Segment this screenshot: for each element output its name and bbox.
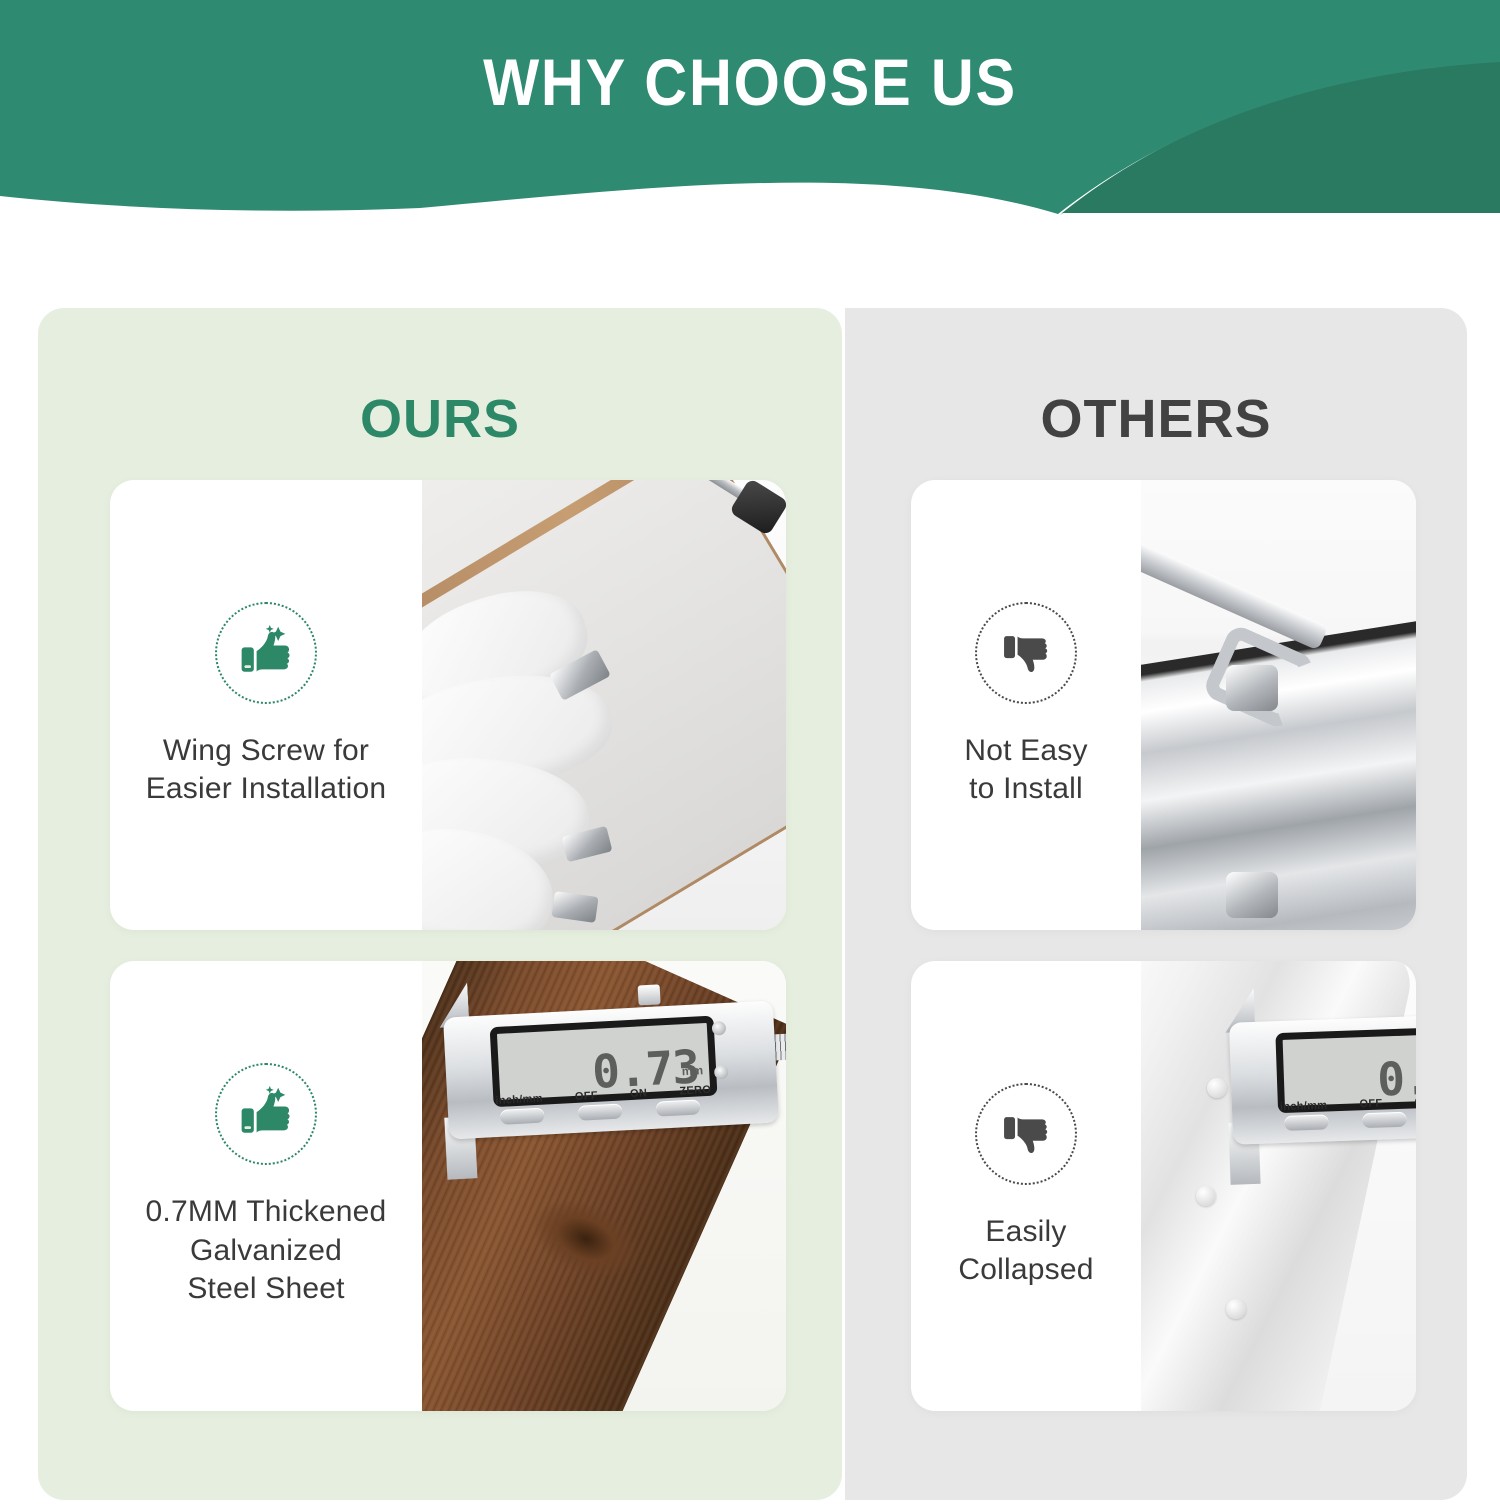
hex-bolt [1226,872,1278,918]
card-others-easily-collapsed-media: 0.33 mm inch/mm OFF ON ZERO [1141,961,1416,1411]
caliper-label-off: OFF [1359,1097,1382,1110]
panel-ours-title: OURS [38,388,842,450]
card-others-not-easy-install[interactable]: Not Easy to Install [911,480,1416,930]
page-title: WHY CHOOSE US [75,44,1425,120]
card-others-easily-collapsed[interactable]: Easily Collapsed 0.33 mm [911,961,1416,1411]
caliper-reading-unit: mm [681,1063,703,1078]
wrench-tightening-bolt-on-steel-duct-photo [1141,480,1416,930]
card-ours-wing-screw-media [422,480,786,930]
caliper-button-2 [578,1103,623,1120]
thumbs-up-sparkle-icon [215,1063,317,1165]
card-ours-wing-screw-text: Wing Screw for Easier Installation [110,480,422,930]
card-ours-steel-sheet-media: 0.73 mm inch/mm OFF ON ZERO [422,961,786,1411]
caliper-button-1 [1284,1114,1328,1131]
card-others-not-easy-install-text: Not Easy to Install [911,480,1141,930]
card-ours-steel-sheet[interactable]: 0.7MM Thickened Galvanized Steel Sheet 0… [110,961,786,1411]
caliper-button-3 [656,1099,701,1116]
card-ours-steel-sheet-label: 0.7MM Thickened Galvanized Steel Sheet [146,1193,387,1308]
page-header: WHY CHOOSE US [0,0,1500,215]
caliper-label-on: ON [1414,1096,1416,1109]
thumbs-down-icon [975,602,1077,704]
thumbs-up-sparkle-icon [215,602,317,704]
caliper-label-zero: ZERO [679,1084,711,1098]
thumbs-down-icon [975,1083,1077,1185]
card-ours-wing-screw-label: Wing Screw for Easier Installation [146,732,387,809]
card-others-not-easy-install-media [1141,480,1416,930]
gloved-hands-installing-wing-screw-photo [422,480,786,930]
caliper-label-on: ON [630,1087,648,1100]
hex-bolt [1226,665,1278,711]
caliper-label-inchmm: inch/mm [1280,1099,1328,1113]
caliper-label-off: OFF [575,1090,599,1103]
duct-rivet [1196,1186,1216,1206]
caliper-button-2 [1362,1112,1406,1129]
panel-others-title: OTHERS [845,388,1467,450]
digital-caliper-others: 0.33 mm inch/mm OFF ON ZERO [1229,1011,1416,1144]
caliper-thumbscrew [638,984,661,1005]
card-others-easily-collapsed-label: Easily Collapsed [958,1213,1093,1290]
panel-others: OTHERS Not Easy to Install [845,308,1467,1500]
card-others-easily-collapsed-text: Easily Collapsed [911,961,1141,1411]
duct-rivet [1226,1299,1246,1319]
digital-caliper-measuring-thin-white-duct-photo: 0.33 mm inch/mm OFF ON ZERO [1141,961,1416,1411]
caliper-button-1 [500,1108,545,1125]
card-ours-wing-screw[interactable]: Wing Screw for Easier Installation [110,480,786,930]
panel-ours: OURS Wing Screw for Easier Installation [38,308,842,1500]
card-others-not-easy-install-label: Not Easy to Install [964,732,1087,809]
comparison-panels: OURS Wing Screw for Easier Installation [0,308,1500,1508]
card-ours-steel-sheet-text: 0.7MM Thickened Galvanized Steel Sheet [110,961,422,1411]
caliper-label-inchmm: inch/mm [495,1093,543,1107]
digital-caliper-measuring-wood-grain-panel-photo: 0.73 mm inch/mm OFF ON ZERO [422,961,786,1411]
duct-rivet [1207,1078,1227,1098]
digital-caliper-ours: 0.73 mm inch/mm OFF ON ZERO [443,1000,779,1139]
